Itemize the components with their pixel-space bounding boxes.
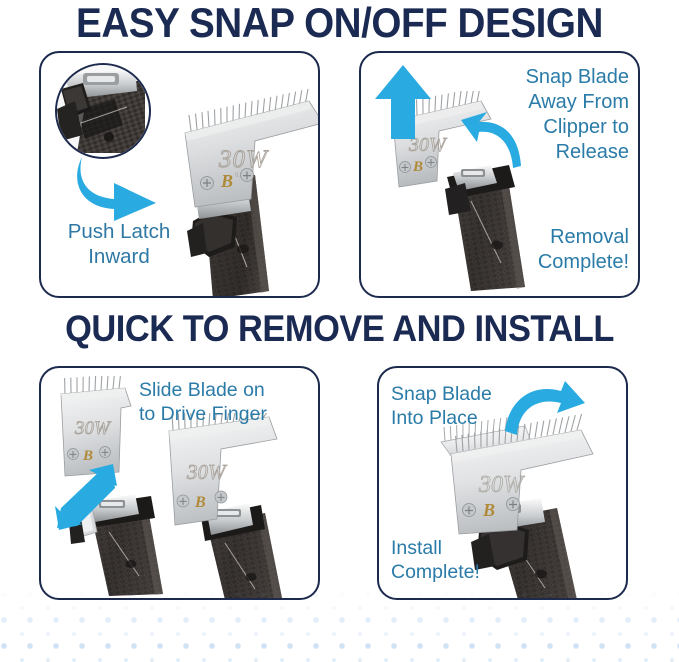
dotted-background-pattern bbox=[0, 590, 679, 662]
svg-text:30W: 30W bbox=[478, 472, 525, 498]
svg-text:30W: 30W bbox=[186, 460, 228, 484]
svg-text:B: B bbox=[194, 494, 206, 511]
curved-arrow-right-icon bbox=[74, 153, 164, 221]
caption-removal-complete: Removal Complete! bbox=[479, 225, 629, 275]
clipper-blade-attached-illustration: 30W B bbox=[155, 413, 315, 600]
caption-push-latch: Push Latch Inward bbox=[49, 219, 189, 269]
panel-push-latch: 30W 0.1mm B bbox=[39, 51, 320, 298]
caption-slide-blade: Slide Blade on to Drive Finger bbox=[139, 378, 314, 426]
panel-snap-blade-away: 30W B Snap Blade Away From Clipper to Re… bbox=[359, 51, 640, 298]
svg-text:B: B bbox=[220, 171, 233, 191]
caption-snap-blade-away: Snap Blade Away From Clipper to Release bbox=[469, 65, 629, 165]
arrow-down-left-icon bbox=[55, 464, 117, 530]
svg-text:30W: 30W bbox=[74, 418, 112, 439]
caption-install-complete: Install Complete! bbox=[391, 536, 541, 584]
svg-text:B: B bbox=[412, 159, 423, 175]
arrow-up-icon bbox=[375, 65, 431, 139]
panel-slide-blade: 30W B bbox=[39, 366, 320, 600]
caption-snap-blade-into-place: Snap Blade Into Place bbox=[391, 382, 541, 430]
panel-snap-into-place: 30W B Snap Blade Into Place Install Comp… bbox=[377, 366, 628, 600]
svg-text:B: B bbox=[482, 500, 495, 520]
page-title-easy-snap: EASY SNAP ON/OFF DESIGN bbox=[27, 0, 652, 46]
page-title-quick-to-remove: QUICK TO REMOVE AND INSTALL bbox=[24, 308, 655, 349]
latch-closeup-inset-circle bbox=[55, 63, 151, 159]
svg-text:30W: 30W bbox=[218, 146, 269, 173]
svg-text:B: B bbox=[82, 448, 93, 464]
